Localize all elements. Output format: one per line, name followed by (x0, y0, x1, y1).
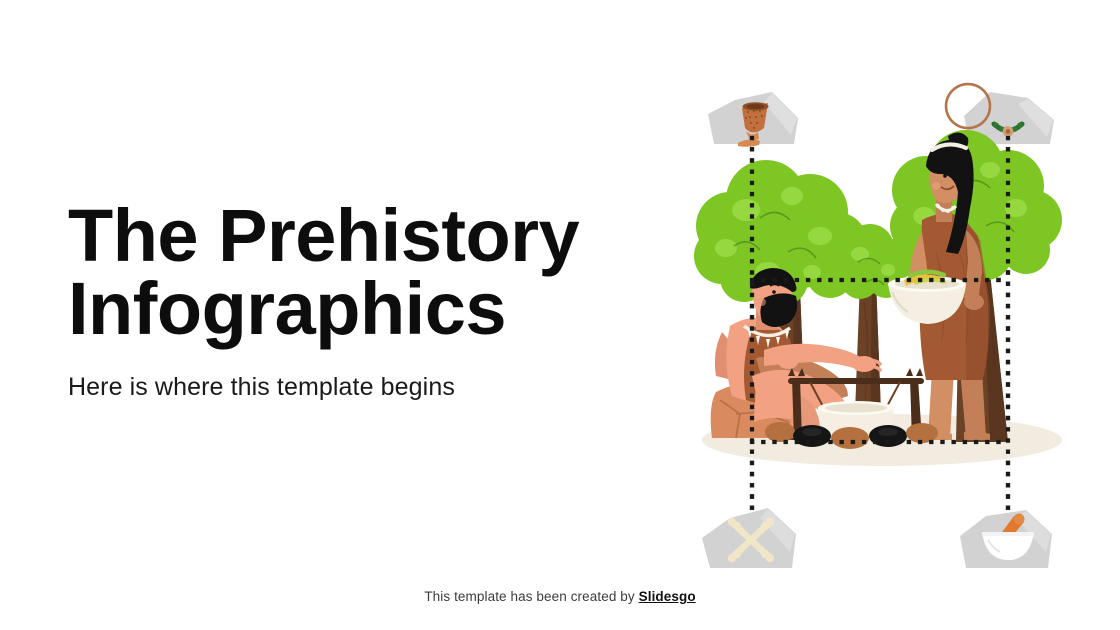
page-subtitle: Here is where this template begins (68, 373, 688, 402)
footer-text: This template has been created by (424, 589, 638, 604)
post-right-fork (906, 368, 923, 376)
woman-cheek (932, 182, 940, 190)
man-eye (772, 290, 776, 294)
man-hand (852, 356, 876, 372)
marker-bottom-left[interactable] (702, 508, 796, 568)
footer-credit: This template has been created by Slides… (0, 589, 1120, 604)
page-title: The Prehistory Infographics (68, 200, 688, 345)
title-line-2: Infographics (68, 273, 688, 346)
man-cheek (758, 298, 766, 306)
woman-hand-right (964, 294, 984, 310)
cooking-frame-bar (788, 378, 924, 384)
title-block: The Prehistory Infographics Here is wher… (68, 200, 688, 402)
prehistory-illustration (660, 40, 1100, 580)
slide-root: The Prehistory Infographics Here is wher… (0, 0, 1120, 630)
woman-eye (943, 174, 947, 178)
slidesgo-link[interactable]: Slidesgo (639, 589, 696, 604)
title-line-1: The Prehistory (68, 194, 579, 277)
marker-bottom-right[interactable] (960, 510, 1052, 568)
man-hand-knee (778, 355, 798, 369)
